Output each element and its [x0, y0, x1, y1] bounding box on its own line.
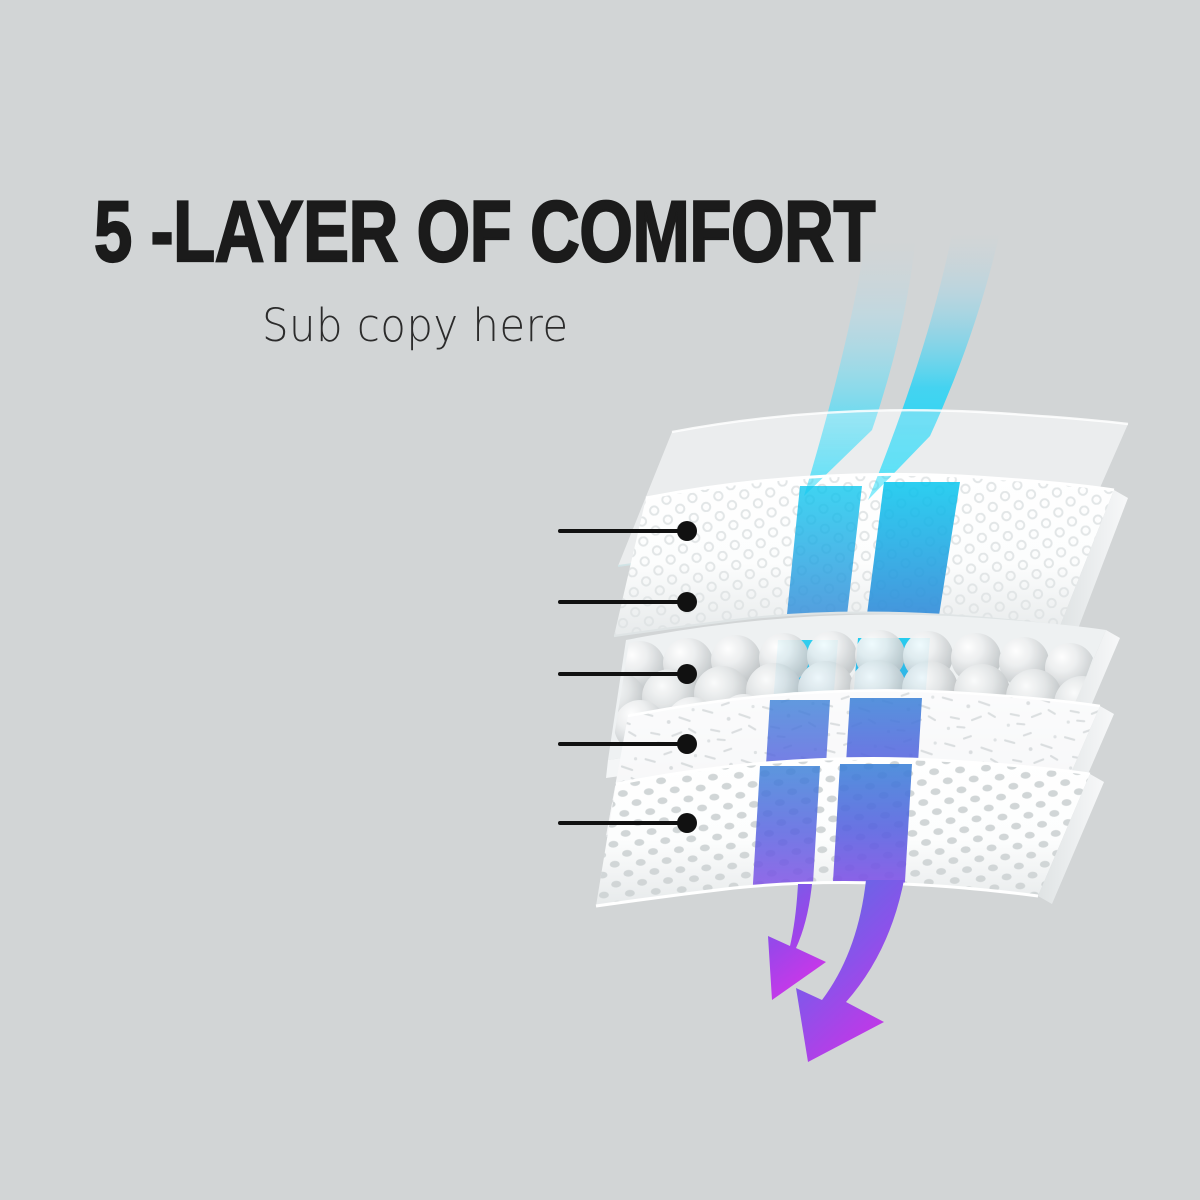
- leader-line-polyester-top: [558, 600, 690, 604]
- callout-labels: 100% cotton cover 100gsm polyester Glass…: [0, 0, 560, 1200]
- leader-line-microfibre-fabric: [558, 821, 690, 825]
- purple-airflow-arrows: [752, 880, 904, 1062]
- leader-line-cotton-cover: [558, 529, 690, 533]
- leader-line-polyester-bottom: [558, 742, 690, 746]
- infographic-canvas: 5 -LAYER OF COMFORT Sub copy here 100% c…: [0, 0, 1200, 1200]
- leader-dot-cotton-cover: [677, 521, 697, 541]
- leader-line-glass-beads: [558, 672, 690, 676]
- leader-dot-polyester-bottom: [677, 734, 697, 754]
- leader-dot-polyester-top: [677, 592, 697, 612]
- leader-dot-microfibre-fabric: [677, 813, 697, 833]
- leader-dot-glass-beads: [677, 664, 697, 684]
